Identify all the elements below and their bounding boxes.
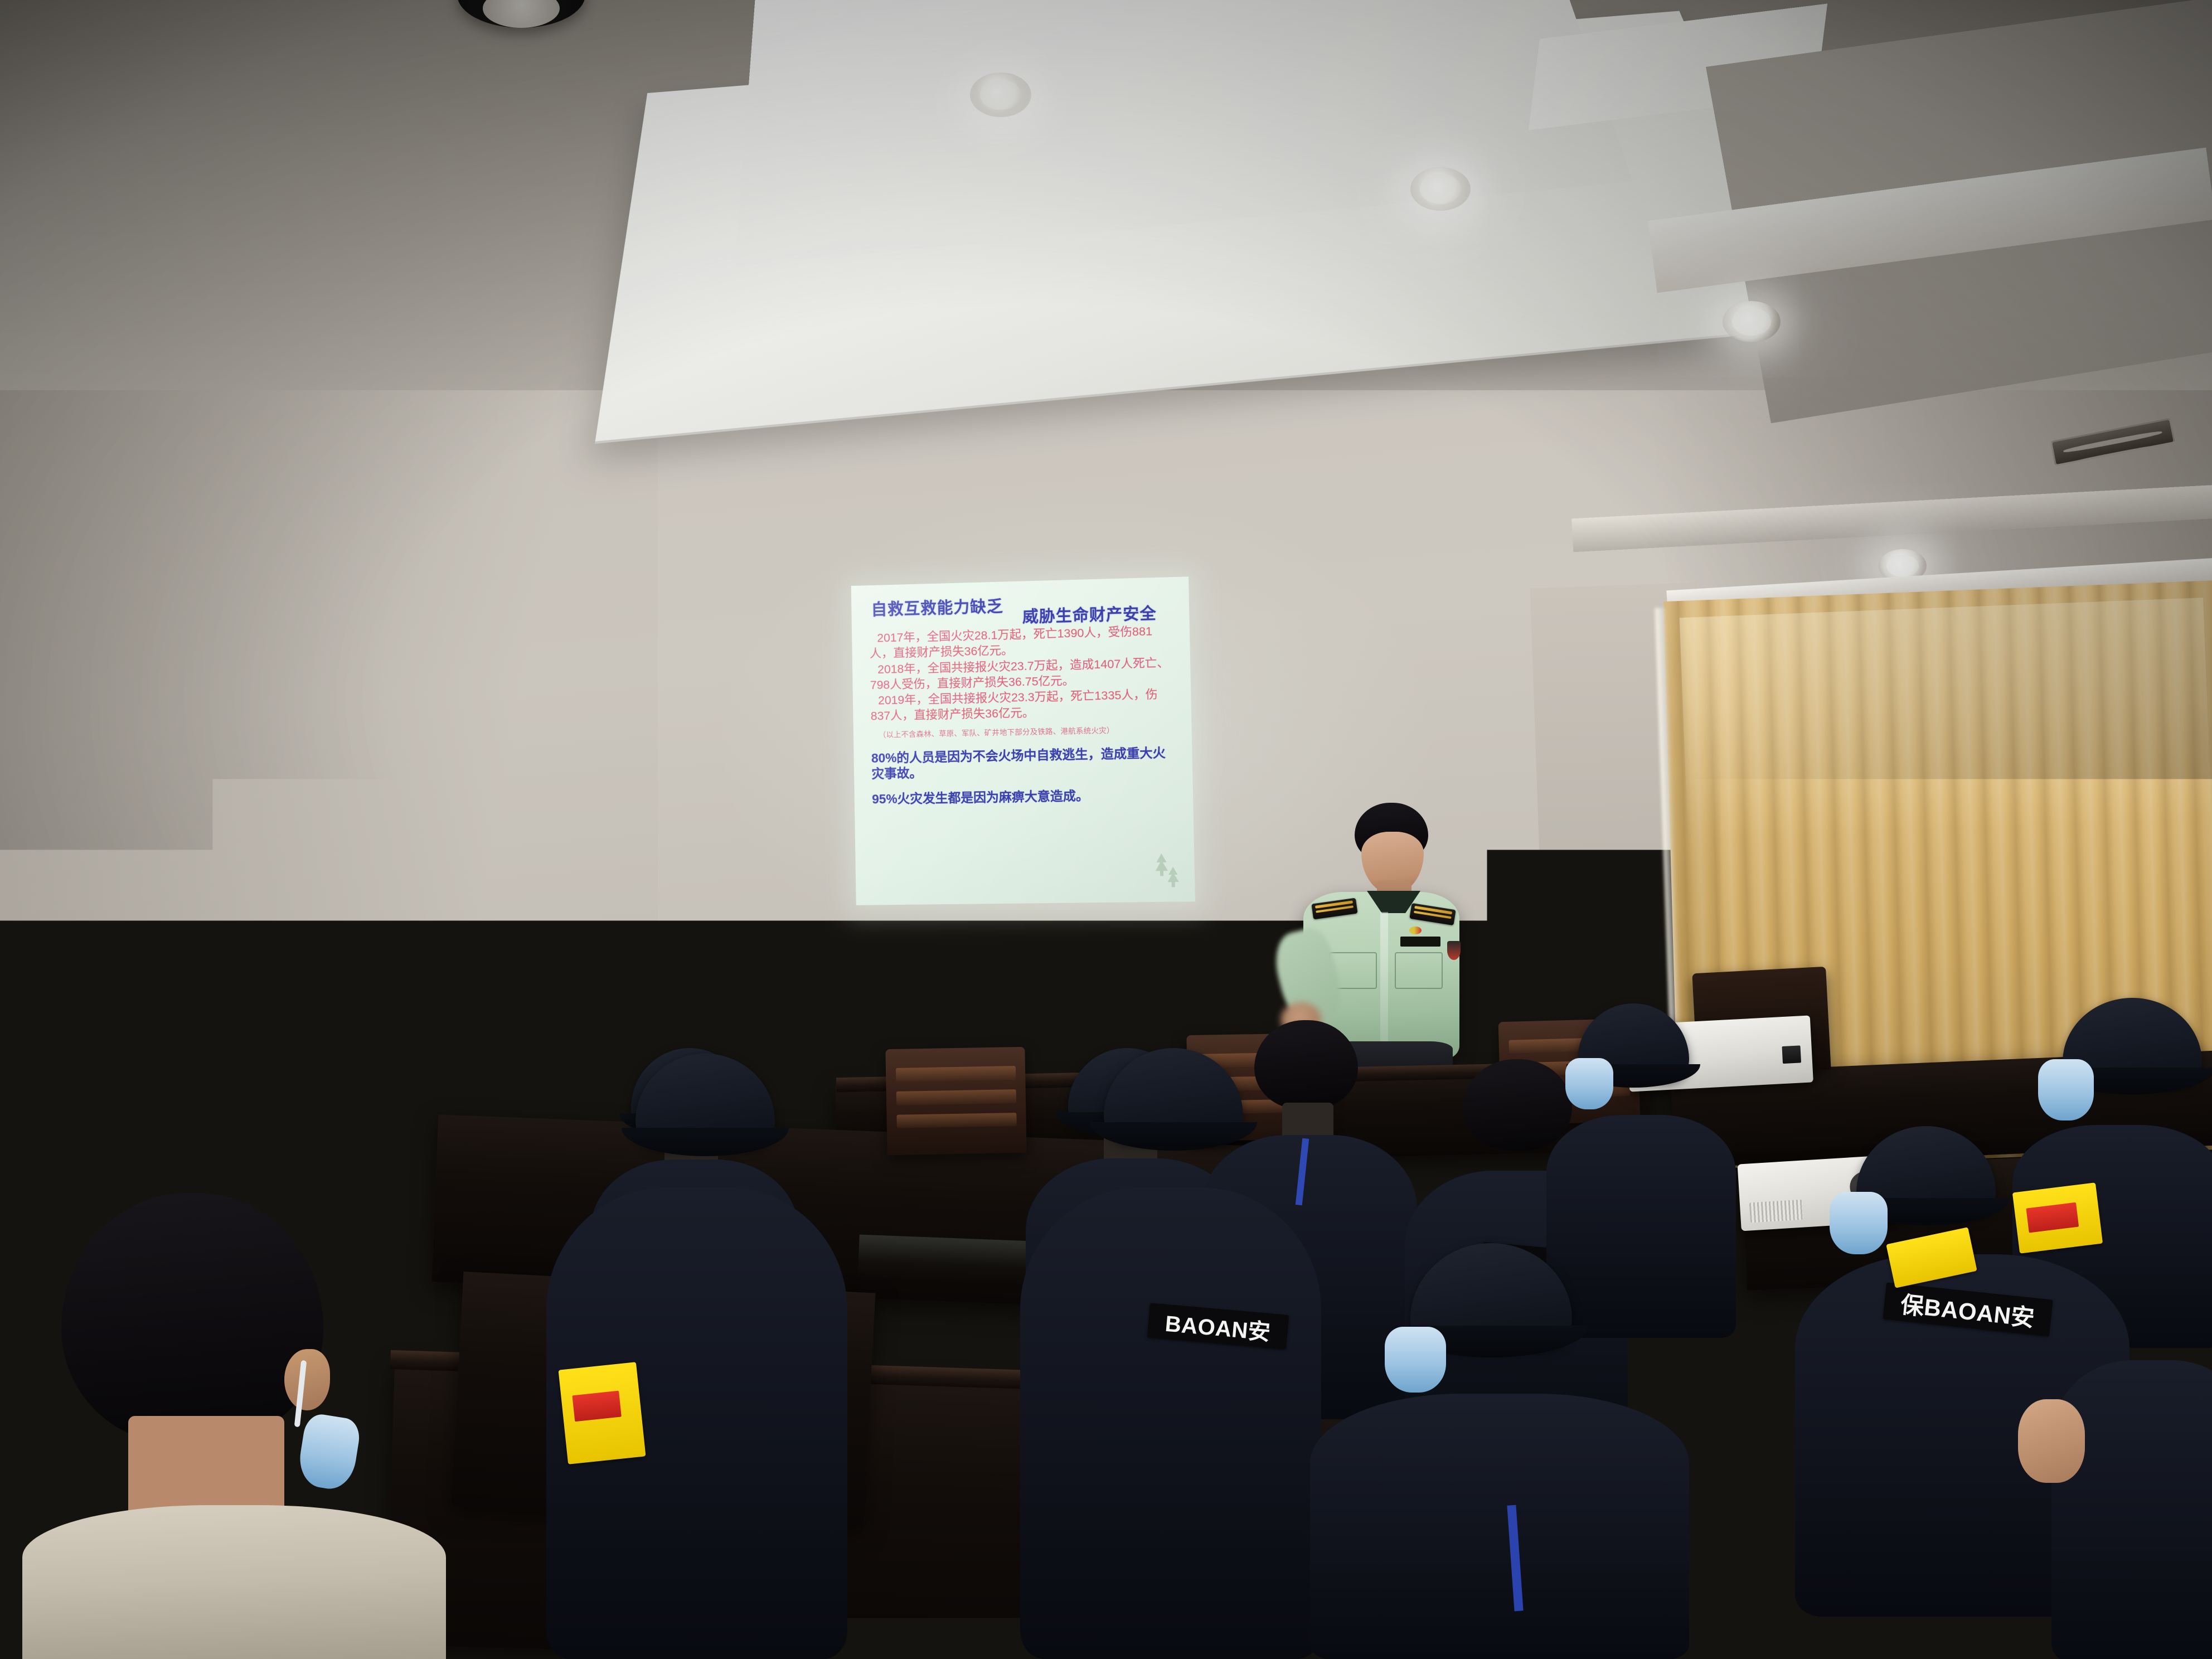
slide-footnote: （以上不含森林、草原、军队、矿井地下部分及铁路、港航系统火灾）: [879, 725, 1177, 740]
lecture-room-photo: 自救互救能力缺乏 威胁生命财产安全 2017年，全国火灾28.1万起，死亡139…: [0, 0, 2212, 1659]
foreground-person-shirt: [22, 1505, 446, 1659]
ceiling-downlight-2: [1410, 167, 1471, 211]
presenter-name-badge: [1400, 937, 1440, 947]
presenter-shoulder-patch: [1447, 941, 1461, 960]
presenter-pocket-right: [1395, 952, 1443, 989]
attendee-front-cap-center: BAOAN安: [1054, 1048, 1288, 1659]
slide-watermark-icon: [1150, 850, 1187, 894]
curtain-highlight: [1680, 598, 2212, 841]
foreground-person: [22, 1193, 446, 1659]
foreground-person-hanging-mask: [295, 1412, 362, 1492]
foreground-person-ear: [284, 1349, 330, 1410]
attendee-right-lower: [2051, 1327, 2212, 1659]
slide-stat-2018: 2018年，全国共接报火灾23.7万起，造成1407人死亡、798人受伤，直接财…: [870, 655, 1176, 693]
attendee-front-cap-left: [574, 1054, 819, 1659]
slide-title-part1: 自救互救能力缺乏: [871, 598, 1003, 619]
projected-slide: 自救互救能力缺乏 威胁生命财产安全 2017年，全国火灾28.1万起，死亡139…: [851, 576, 1195, 905]
attendee-face-mask: [1830, 1192, 1888, 1254]
attendee-front-right: [1327, 1243, 1672, 1659]
slide-stat-2019: 2019年，全国共接报火灾23.3万起，死亡1335人，伤837人，直接财产损失…: [870, 687, 1177, 724]
attendee-face-mask: [1565, 1058, 1613, 1109]
presenter-chest-emblem: [1409, 926, 1422, 934]
attendee-torso: [1310, 1394, 1689, 1659]
foreground-person-hair: [61, 1193, 323, 1444]
attendee-face-mask: [1385, 1327, 1446, 1393]
chair-1[interactable]: [885, 1047, 1026, 1155]
slide-emphasis-95: 95%火灾发生都是因为麻痹大意造成。: [872, 787, 1178, 807]
slide-title-part2: 威胁生命财产安全: [1022, 605, 1157, 626]
attendee-cap: [636, 1054, 775, 1148]
ceiling-downlight-1: [970, 72, 1031, 117]
attendee-cap: [1104, 1048, 1243, 1143]
attendee-face-mask: [2038, 1059, 2094, 1120]
attendee-armband: [558, 1362, 646, 1464]
ceiling-downlight-3: [1723, 301, 1781, 342]
attendee-hand: [2018, 1399, 2085, 1483]
attendee-torso: [1020, 1187, 1321, 1659]
attendee-torso: [2051, 1360, 2212, 1659]
slide-emphasis-80: 80%的人员是因为不会火场中自救逃生，造成重大火灾事故。: [871, 745, 1178, 782]
